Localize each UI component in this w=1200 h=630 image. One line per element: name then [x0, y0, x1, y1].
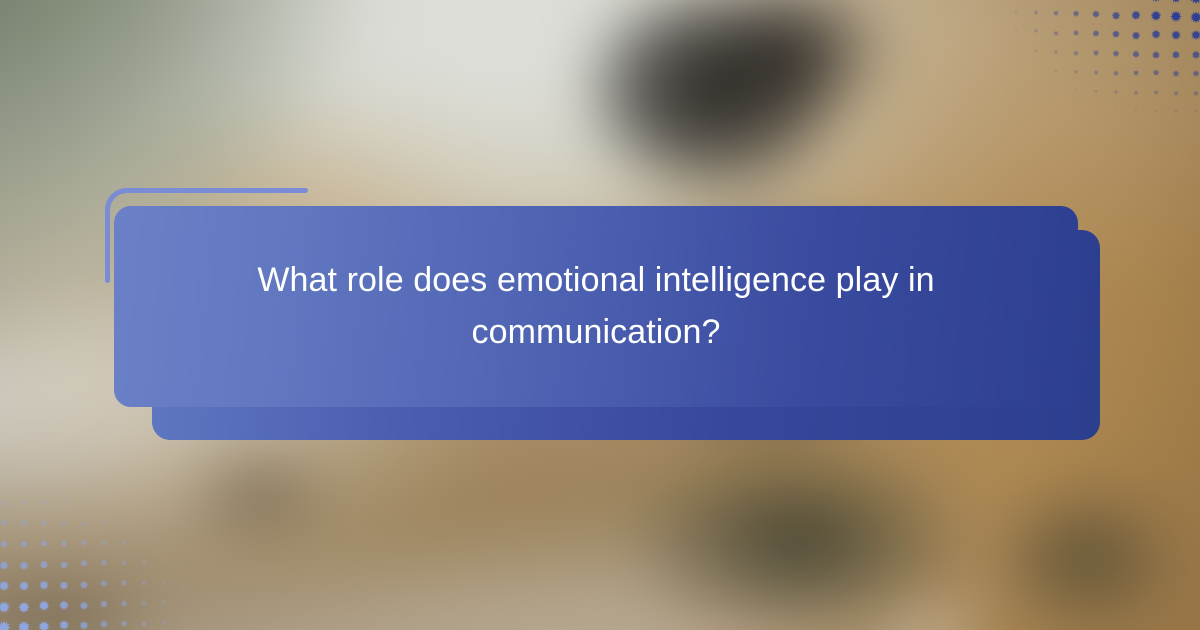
question-text: What role does emotional intelligence pl…: [200, 255, 992, 358]
question-card-stage: ✹✹✹✹✹✹✹✹✹✹✹✹✹✹✹✹✹✹✹✹✹✹✹✹✹✹✹✹✹✹✹✹✹✹✹✹✹✹✹✹…: [0, 0, 1200, 630]
question-card: What role does emotional intelligence pl…: [114, 206, 1078, 407]
